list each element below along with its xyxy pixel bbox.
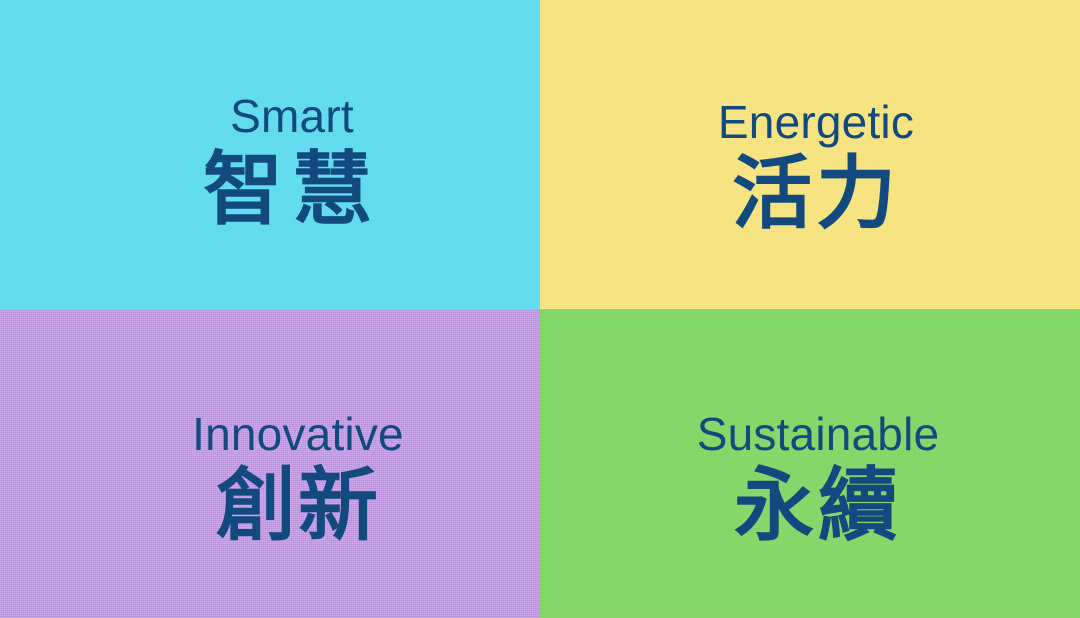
panel-sustainable: Sustainable 永續 (540, 309, 1080, 618)
panel-innovative: Innovative 創新 (0, 309, 540, 618)
value-english-innovative: Innovative (28, 410, 540, 458)
value-english-energetic: Energetic (546, 98, 1080, 146)
value-english-smart: Smart (22, 92, 540, 140)
value-chinese-sustainable: 永續 (548, 464, 1080, 548)
panel-energetic: Energetic 活力 (540, 0, 1080, 309)
value-block-sustainable: Sustainable 永續 (548, 410, 1080, 548)
value-english-sustainable: Sustainable (548, 410, 1080, 458)
value-chinese-energetic: 活力 (546, 152, 1080, 236)
value-block-innovative: Innovative 創新 (28, 410, 540, 548)
value-chinese-innovative: 創新 (28, 464, 540, 548)
value-block-energetic: Energetic 活力 (546, 98, 1080, 236)
panel-smart: Smart 智慧 (0, 0, 540, 309)
value-block-smart: Smart 智慧 (22, 92, 540, 232)
brand-values-quadrant-canvas: Smart 智慧 Energetic 活力 Innovative 創新 Sust… (0, 0, 1080, 618)
value-chinese-smart: 智慧 (22, 148, 540, 232)
